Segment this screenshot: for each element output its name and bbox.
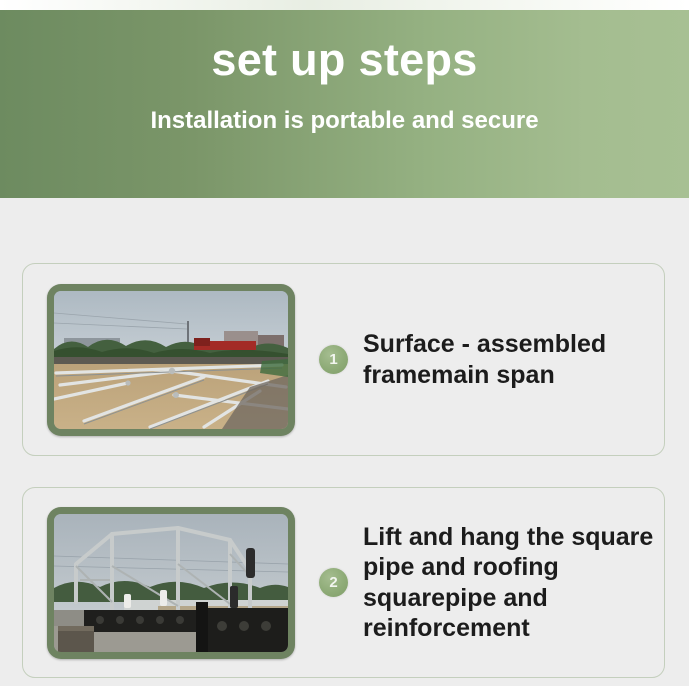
construction-site-photo-icon: [54, 291, 288, 429]
step-photo-frame: [47, 507, 295, 659]
step-card[interactable]: 2 Lift and hang the square pipe and roof…: [22, 487, 665, 678]
top-light-strip: [0, 0, 689, 10]
step-body: 2 Lift and hang the square pipe and roof…: [319, 522, 664, 644]
step-description: Lift and hang the square pipe and roofin…: [363, 522, 664, 644]
tent-frame-photo-icon: [54, 514, 288, 652]
header-banner: set up steps Installation is portable an…: [0, 10, 689, 198]
step-card[interactable]: 1 Surface - assembled framemain span: [22, 263, 665, 456]
step-number-badge: 1: [319, 345, 348, 374]
page-title: set up steps: [211, 36, 477, 83]
step-photo-frame: [47, 284, 295, 436]
setup-steps-page: set up steps Installation is portable an…: [0, 0, 689, 686]
step-photo-1: [54, 291, 288, 429]
step-body: 1 Surface - assembled framemain span: [319, 329, 664, 390]
step-photo-2: [54, 514, 288, 652]
page-subtitle: Installation is portable and secure: [150, 107, 538, 135]
step-description: Surface - assembled framemain span: [363, 329, 663, 390]
step-number-badge: 2: [319, 568, 348, 597]
